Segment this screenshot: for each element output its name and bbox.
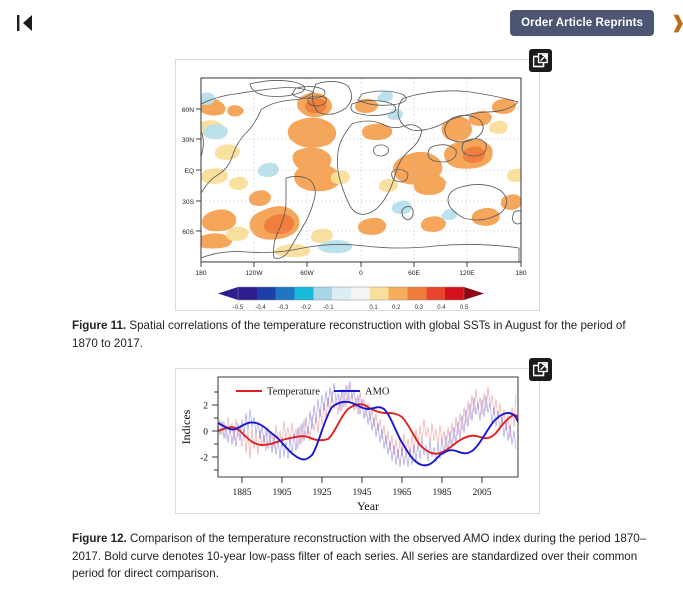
top-bar: Order Article Reprints ❱	[0, 0, 683, 48]
xtick-1885: 1885	[233, 488, 252, 498]
figure-12-caption-text: Comparison of the temperature reconstruc…	[72, 532, 646, 580]
figure-12-timeseries: Temperature AMO 2 0 -2	[176, 369, 539, 513]
cbar-tick-9: 0.5	[460, 305, 469, 310]
map-ytick-eq: EQ	[184, 168, 194, 175]
map-xtick-6: 180	[515, 270, 526, 277]
cbar-tick-6: 0.2	[392, 305, 401, 310]
map-colorbar: -0.5 -0.4 -0.3 -0.2 -0.1 0.1 0.2 0.3 0.4…	[218, 287, 484, 310]
correlation-patches	[195, 91, 526, 257]
map-ytick-30n: 30N	[182, 137, 194, 144]
order-article-reprints-button[interactable]: Order Article Reprints	[510, 10, 654, 36]
figure-11-container: 60N 30N EQ 30S 60S 180 120W	[175, 59, 540, 311]
figure-12-caption-label: Figure 12.	[72, 532, 127, 545]
map-ytick-30s: 30S	[182, 199, 194, 206]
skip-back-icon[interactable]	[14, 12, 38, 34]
map-xtick-4: 60E	[408, 270, 420, 277]
figure-12-legend: Temperature AMO	[236, 387, 390, 398]
cbar-tick-1: -0.4	[255, 305, 266, 310]
map-xtick-0: 180	[195, 270, 206, 277]
xtick-1945: 1945	[353, 488, 372, 498]
map-x-axis: 180 120W 60W 0 60E 120E 180	[195, 262, 526, 277]
figure-11-caption-text: Spatial correlations of the temperature …	[72, 319, 626, 350]
map-ytick-60n: 60N	[182, 107, 194, 114]
figure-12-y-axis: 2 0 -2 Indices	[179, 392, 218, 470]
xtick-1985: 1985	[433, 488, 452, 498]
x-axis-label: Year	[357, 499, 379, 513]
cbar-tick-8: 0.4	[437, 305, 446, 310]
cbar-tick-7: 0.3	[415, 305, 424, 310]
figure-11-caption-label: Figure 11.	[72, 319, 126, 332]
expand-external-icon[interactable]	[529, 358, 552, 381]
ytick-neg2: -2	[200, 454, 208, 464]
map-xtick-5: 120E	[459, 270, 475, 277]
xtick-1965: 1965	[393, 488, 412, 498]
cbar-tick-0: -0.5	[233, 305, 244, 310]
legend-label-amo: AMO	[365, 387, 390, 398]
xtick-1925: 1925	[313, 488, 332, 498]
cbar-tick-4: -0.1	[323, 305, 334, 310]
y-axis-label: Indices	[179, 409, 193, 444]
figure-12-container: Temperature AMO 2 0 -2	[175, 368, 540, 514]
figure-11-map: 60N 30N EQ 30S 60S 180 120W	[176, 60, 539, 310]
legend-label-temperature: Temperature	[267, 387, 320, 398]
figure-11-caption: Figure 11. Spatial correlations of the t…	[72, 317, 652, 352]
cbar-tick-5: 0.1	[369, 305, 378, 310]
cbar-tick-2: -0.3	[278, 305, 289, 310]
map-xtick-2: 60W	[300, 270, 314, 277]
ytick-0: 0	[203, 428, 208, 438]
side-tab-handle[interactable]: ❱	[671, 12, 683, 34]
xtick-1905: 1905	[273, 488, 292, 498]
map-ytick-60s: 60S	[182, 229, 194, 236]
figure-12-caption: Figure 12. Comparison of the temperature…	[72, 530, 652, 583]
figure-12-x-axis: 1885 1905 1925 1945 1965 1985 2005 Year	[233, 477, 492, 513]
map-xtick-3: 0	[359, 270, 363, 277]
map-y-axis: 60N 30N EQ 30S 60S	[182, 107, 201, 236]
xtick-2005: 2005	[473, 488, 492, 498]
page-root: Order Article Reprints ❱	[0, 0, 683, 608]
ytick-2: 2	[203, 402, 208, 412]
expand-external-icon[interactable]	[529, 49, 552, 72]
cbar-tick-3: -0.2	[301, 305, 312, 310]
map-xtick-1: 120W	[245, 270, 263, 277]
